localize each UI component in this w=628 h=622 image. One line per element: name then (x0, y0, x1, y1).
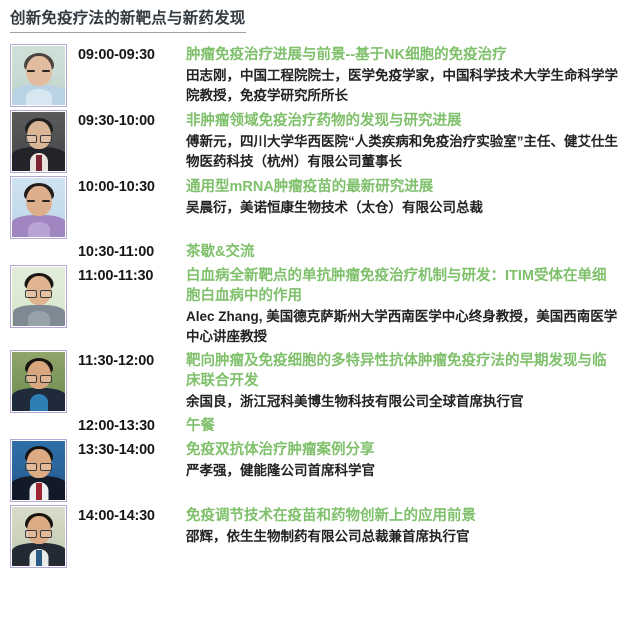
agenda-time: 13:30-14:00 (78, 440, 186, 460)
avatar-cell (10, 262, 78, 328)
agenda-talk-title[interactable]: 白血病全新靶点的单抗肿瘤免疫治疗机制与研发：ITIM受体在单细胞白血病中的作用 (186, 266, 620, 306)
agenda-row-body: 09:30-10:00非肿瘤领域免疫治疗药物的发现与研究进展傅新元，四川大学华西… (78, 107, 620, 172)
portrait-graphic (12, 441, 65, 500)
agenda-row-body: 12:00-13:30午餐 (78, 413, 620, 436)
session-header: 创新免疫疗法的新靶点与新药发现 (0, 0, 628, 33)
agenda-details: 午餐 (186, 416, 620, 436)
agenda-speaker: 余国良，浙江冠科美博生物科技有限公司全球首席执行官 (186, 392, 620, 412)
speaker-photo-alec-zhang (10, 265, 67, 328)
agenda-talk-title[interactable]: 茶歇&交流 (186, 242, 620, 262)
agenda-time: 12:00-13:30 (78, 416, 186, 436)
portrait-graphic (12, 112, 65, 171)
portrait-graphic (12, 267, 65, 326)
agenda-talk-title[interactable]: 靶向肿瘤及免疫细胞的多特异性抗体肿瘤免疫疗法的早期发现与临床联合开发 (186, 351, 620, 391)
agenda-row-body: 11:30-12:00靶向肿瘤及免疫细胞的多特异性抗体肿瘤免疫疗法的早期发现与临… (78, 347, 620, 412)
avatar-cell (10, 502, 78, 568)
agenda-details: 非肿瘤领域免疫治疗药物的发现与研究进展傅新元，四川大学华西医院“人类疾病和免疫治… (186, 111, 620, 172)
agenda-talk-title[interactable]: 肿瘤免疫治疗进展与前景--基于NK细胞的免疫治疗 (186, 45, 620, 65)
agenda-row: 13:30-14:00免疫双抗体治疗肿瘤案例分享严孝强，健能隆公司首席科学官 (0, 436, 628, 502)
agenda-speaker: 傅新元，四川大学华西医院“人类疾病和免疫治疗实验室”主任、健艾仕生物医药科技（杭… (186, 132, 620, 172)
agenda-details: 肿瘤免疫治疗进展与前景--基于NK细胞的免疫治疗田志刚，中国工程院院士，医学免疫… (186, 45, 620, 106)
agenda-talk-title[interactable]: 通用型mRNA肿瘤疫苗的最新研究进展 (186, 177, 620, 197)
agenda-row: 09:30-10:00非肿瘤领域免疫治疗药物的发现与研究进展傅新元，四川大学华西… (0, 107, 628, 173)
avatar-cell (10, 436, 78, 502)
agenda-time: 10:00-10:30 (78, 177, 186, 197)
agenda-talk-title[interactable]: 非肿瘤领域免疫治疗药物的发现与研究进展 (186, 111, 620, 131)
avatar-cell (10, 107, 78, 173)
agenda-row-body: 14:00-14:30免疫调节技术在疫苗和药物创新上的应用前景邵辉，依生生物制药… (78, 502, 620, 547)
portrait-graphic (12, 507, 65, 566)
avatar-cell (10, 347, 78, 413)
avatar-image (12, 112, 65, 171)
speaker-photo-shao-hui (10, 505, 67, 568)
agenda-details: 免疫调节技术在疫苗和药物创新上的应用前景邵辉，依生生物制药有限公司总裁兼首席执行… (186, 506, 620, 547)
agenda-details: 靶向肿瘤及免疫细胞的多特异性抗体肿瘤免疫疗法的早期发现与临床联合开发余国良，浙江… (186, 351, 620, 412)
agenda-row: 10:00-10:30通用型mRNA肿瘤疫苗的最新研究进展吴晨衍，美诺恒康生物技… (0, 173, 628, 239)
agenda-row: 10:30-11:00茶歇&交流 (0, 239, 628, 262)
avatar-cell (10, 173, 78, 239)
agenda-speaker: Alec Zhang, 美国德克萨斯州大学西南医学中心终身教授，美国西南医学中心… (186, 307, 620, 347)
portrait-graphic (12, 352, 65, 411)
agenda-time: 14:00-14:30 (78, 506, 186, 526)
agenda-row: 12:00-13:30午餐 (0, 413, 628, 436)
agenda-details: 通用型mRNA肿瘤疫苗的最新研究进展吴晨衍，美诺恒康生物技术（太仓）有限公司总裁 (186, 177, 620, 218)
speaker-photo-wu-chenyan (10, 176, 67, 239)
agenda-talk-title[interactable]: 免疫双抗体治疗肿瘤案例分享 (186, 440, 620, 460)
portrait-graphic (12, 178, 65, 237)
page-title: 创新免疫疗法的新靶点与新药发现 (10, 9, 246, 33)
agenda-details: 免疫双抗体治疗肿瘤案例分享严孝强，健能隆公司首席科学官 (186, 440, 620, 481)
avatar-image (12, 507, 65, 566)
agenda-time: 09:00-09:30 (78, 45, 186, 65)
agenda-row-body: 10:00-10:30通用型mRNA肿瘤疫苗的最新研究进展吴晨衍，美诺恒康生物技… (78, 173, 620, 218)
agenda-details: 白血病全新靶点的单抗肿瘤免疫治疗机制与研发：ITIM受体在单细胞白血病中的作用A… (186, 266, 620, 347)
agenda-time: 11:30-12:00 (78, 351, 186, 371)
agenda-row: 11:30-12:00靶向肿瘤及免疫细胞的多特异性抗体肿瘤免疫疗法的早期发现与临… (0, 347, 628, 413)
agenda-speaker: 邵辉，依生生物制药有限公司总裁兼首席执行官 (186, 527, 620, 547)
speaker-photo-yu-guoliang (10, 350, 67, 413)
avatar-image (12, 46, 65, 105)
avatar-image (12, 352, 65, 411)
agenda-row: 14:00-14:30免疫调节技术在疫苗和药物创新上的应用前景邵辉，依生生物制药… (0, 502, 628, 568)
agenda-time: 09:30-10:00 (78, 111, 186, 131)
avatar-image (12, 178, 65, 237)
agenda-row: 11:00-11:30白血病全新靶点的单抗肿瘤免疫治疗机制与研发：ITIM受体在… (0, 262, 628, 347)
speaker-photo-yan-xiaoqiang (10, 439, 67, 502)
agenda-speaker: 吴晨衍，美诺恒康生物技术（太仓）有限公司总裁 (186, 198, 620, 218)
agenda-speaker: 严孝强，健能隆公司首席科学官 (186, 461, 620, 481)
agenda-details: 茶歇&交流 (186, 242, 620, 262)
agenda-speaker: 田志刚，中国工程院院士，医学免疫学家，中国科学技术大学生命科学学院教授，免疫学研… (186, 66, 620, 106)
avatar-cell (10, 41, 78, 107)
avatar-image (12, 441, 65, 500)
speaker-photo-tian-zhigang (10, 44, 67, 107)
agenda-row: 09:00-09:30肿瘤免疫治疗进展与前景--基于NK细胞的免疫治疗田志刚，中… (0, 41, 628, 107)
agenda-time: 11:00-11:30 (78, 266, 186, 286)
agenda-row-body: 10:30-11:00茶歇&交流 (78, 239, 620, 262)
speaker-photo-fu-xinyuan (10, 110, 67, 173)
agenda-talk-title[interactable]: 免疫调节技术在疫苗和药物创新上的应用前景 (186, 506, 620, 526)
avatar-image (12, 267, 65, 326)
agenda-row-body: 09:00-09:30肿瘤免疫治疗进展与前景--基于NK细胞的免疫治疗田志刚，中… (78, 41, 620, 106)
portrait-graphic (12, 46, 65, 105)
agenda-list: 09:00-09:30肿瘤免疫治疗进展与前景--基于NK细胞的免疫治疗田志刚，中… (0, 41, 628, 568)
agenda-talk-title[interactable]: 午餐 (186, 416, 620, 436)
agenda-row-body: 11:00-11:30白血病全新靶点的单抗肿瘤免疫治疗机制与研发：ITIM受体在… (78, 262, 620, 347)
agenda-row-body: 13:30-14:00免疫双抗体治疗肿瘤案例分享严孝强，健能隆公司首席科学官 (78, 436, 620, 481)
agenda-time: 10:30-11:00 (78, 242, 186, 262)
